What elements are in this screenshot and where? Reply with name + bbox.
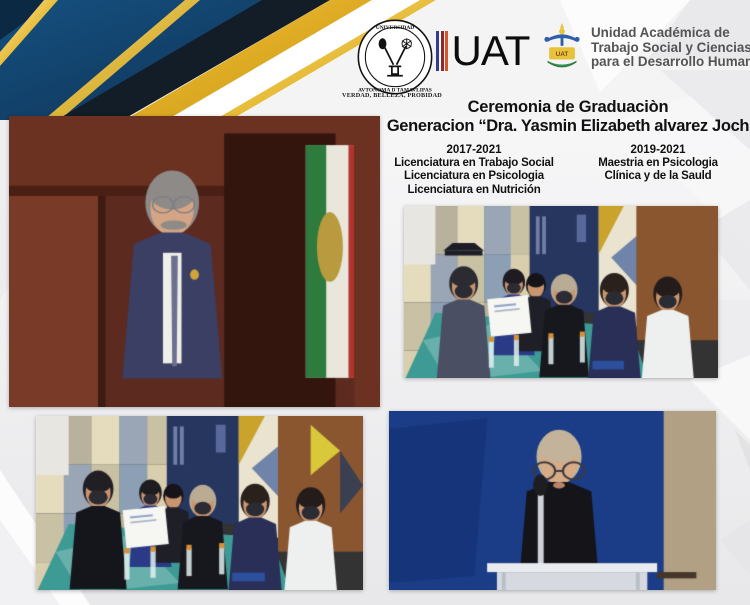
svg-text:UAT: UAT	[556, 51, 569, 58]
header-logo-row: UNIVERSIDAD AVTONOMA D TAMAVLIPAS VERDAD…	[348, 12, 748, 104]
academic-unit-crest-icon: UAT	[540, 20, 584, 76]
program-degree: Clínica y de la Sauld	[566, 170, 750, 183]
graduate-diploma-handover-photo	[404, 206, 718, 378]
program-degree: Licenciatura en Psicologia	[382, 170, 566, 183]
graduate-diploma-handover-photo-2	[36, 416, 363, 590]
headline-line-2: Generacion “Dra. Yasmin Elizabeth alvare…	[386, 117, 750, 136]
uat-university-seal-icon: UNIVERSIDAD AVTONOMA D TAMAVLIPAS	[356, 18, 434, 96]
poster-headline: Ceremonia de Graduaciòn Generacion “Dra.…	[386, 98, 750, 136]
uat-wordmark: UAT	[452, 31, 530, 71]
program-columns: 2017-2021 Licenciatura en Trabajo Social…	[382, 143, 750, 197]
academic-unit-line-3: para el Desarrollo Humano	[591, 55, 750, 70]
speaker-podium-photo	[389, 411, 716, 590]
academic-unit-logo: UAT Unidad Académica de Trabajo Social y…	[540, 20, 750, 76]
program-degree: Maestria en Psicologia	[566, 157, 750, 170]
program-years: 2019-2021	[566, 143, 750, 157]
academic-unit-line-2: Trabajo Social y Ciencias	[591, 41, 750, 56]
svg-text:UNIVERSIDAD: UNIVERSIDAD	[376, 25, 415, 31]
uat-logo: UAT	[436, 26, 529, 76]
rector-portrait-photo	[9, 116, 380, 407]
academic-unit-name: Unidad Académica de Trabajo Social y Cie…	[591, 26, 750, 70]
program-years: 2017-2021	[382, 143, 566, 157]
program-column-right: 2019-2021 Maestria en Psicologia Clínica…	[566, 143, 750, 197]
program-degree: Licenciatura en Trabajo Social	[382, 157, 566, 170]
academic-unit-line-1: Unidad Académica de	[591, 26, 750, 41]
program-degree: Licenciatura en Nutrición	[382, 184, 566, 197]
headline-line-1: Ceremonia de Graduaciòn	[386, 98, 750, 117]
graduation-ceremony-poster: UNIVERSIDAD AVTONOMA D TAMAVLIPAS VERDAD…	[0, 0, 750, 605]
program-column-left: 2017-2021 Licenciatura en Trabajo Social…	[382, 143, 566, 197]
uat-logo-bars-icon	[436, 31, 450, 71]
